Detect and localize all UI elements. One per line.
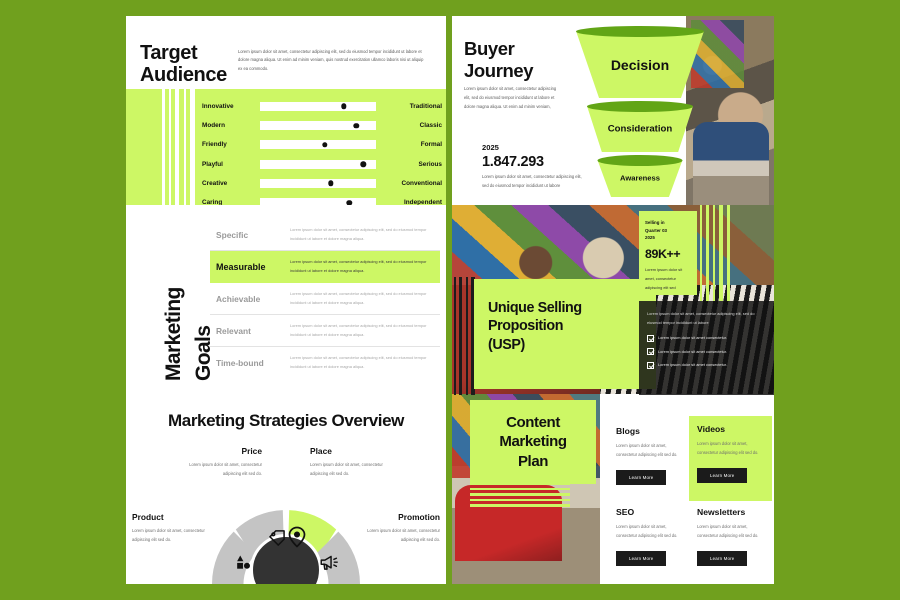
goal-row[interactable]: AchievableLorem ipsum dolor sit amet, co… bbox=[210, 283, 440, 315]
title-line-3: (USP) bbox=[488, 336, 648, 354]
funnel-stage-label: Awareness bbox=[598, 173, 683, 182]
slider-track[interactable] bbox=[260, 102, 376, 111]
title-line-2: Marketing bbox=[499, 433, 566, 450]
page-title: Target Audience bbox=[140, 42, 227, 87]
funnel-chart: Decision Consideration Awareness bbox=[560, 24, 720, 202]
metric-year: 2025 bbox=[482, 143, 499, 152]
funnel-stage-top-ellipse bbox=[598, 155, 683, 166]
title-line-3: Plan bbox=[518, 453, 548, 470]
checklist-item[interactable]: Lorem ipsum dolor sit amet consectetur. bbox=[647, 348, 766, 355]
slider-list: InnovativeTraditionalModernClassicFriend… bbox=[202, 98, 442, 202]
stat-card: Selling in Quarter 03 2025 89K++ Lorem i… bbox=[639, 211, 697, 295]
slider-row[interactable]: ModernClassic bbox=[202, 117, 442, 134]
content-card[interactable]: VideosLorem ipsum dolor sit amet, consec… bbox=[689, 416, 772, 501]
slider-row[interactable]: CreativeConventional bbox=[202, 175, 442, 192]
goal-row[interactable]: SpecificLorem ipsum dolor sit amet, cons… bbox=[210, 219, 440, 251]
title-line-1: Target bbox=[140, 42, 227, 64]
content-cards-grid: BlogsLorem ipsum dolor sit amet, consect… bbox=[614, 422, 766, 576]
intro-paragraph: Lorem ipsum dolor sit amet, consectetur … bbox=[464, 84, 562, 111]
learn-more-button[interactable]: Learn More bbox=[616, 551, 666, 566]
intro-paragraph: Lorem ipsum dolor sit amet, consectetur … bbox=[238, 48, 428, 73]
goal-name: Specific bbox=[216, 230, 290, 240]
title-line-2: Audience bbox=[140, 64, 227, 86]
card-heading: SEO bbox=[616, 507, 683, 517]
funnel-stage-top-ellipse bbox=[576, 26, 704, 37]
slider-row[interactable]: FriendlyFormal bbox=[202, 137, 442, 154]
strategy-description: Lorem ipsum dolor sit amet, consectetur … bbox=[310, 460, 384, 478]
page-title: Marketing Strategies Overview bbox=[126, 411, 446, 431]
page-title: Unique Selling Proposition (USP) bbox=[488, 299, 648, 354]
strategy-description: Lorem ipsum dolor sit amet, consectetur … bbox=[132, 526, 206, 544]
card-heading: Newsletters bbox=[697, 507, 764, 517]
slider-right-label: Conventional bbox=[380, 180, 442, 187]
slider-left-label: Innovative bbox=[202, 103, 256, 110]
stat-value: 89K++ bbox=[645, 247, 691, 261]
checklist-item-label: Lorem ipsum dolor sit amet consectetur. bbox=[658, 362, 727, 367]
strategy-description: Lorem ipsum dolor sit amet, consectetur … bbox=[366, 526, 440, 544]
learn-more-button[interactable]: Learn More bbox=[616, 470, 666, 485]
funnel-stage-consideration[interactable]: Consideration bbox=[587, 101, 693, 152]
funnel-stage-label: Consideration bbox=[587, 123, 693, 134]
slider-left-label: Creative bbox=[202, 180, 256, 187]
slide-buyer-journey[interactable]: Buyer Journey Lorem ipsum dolor sit amet… bbox=[452, 16, 774, 206]
panel-lead-text: Lorem ipsum dolor sit amet, consectetur … bbox=[647, 310, 766, 328]
strategy-heading: Price bbox=[188, 446, 262, 456]
slider-knob[interactable] bbox=[328, 181, 333, 186]
funnel-stage-awareness[interactable]: Awareness bbox=[598, 155, 683, 197]
goal-description: Lorem ipsum dolor sit amet, consectetur … bbox=[290, 258, 440, 276]
megaphone-icon bbox=[319, 554, 339, 572]
tag-icon bbox=[267, 528, 287, 548]
title-line-2: Proposition bbox=[488, 317, 648, 335]
strategy-description: Lorem ipsum dolor sit amet, consectetur … bbox=[188, 460, 262, 478]
strategy-cell-place[interactable]: Place Lorem ipsum dolor sit amet, consec… bbox=[310, 446, 384, 478]
checklist-item[interactable]: Lorem ipsum dolor sit amet consectetur. bbox=[647, 362, 766, 369]
title-line-1: Unique Selling bbox=[488, 299, 648, 317]
slider-knob[interactable] bbox=[354, 123, 359, 128]
decorative-lime-stripes bbox=[698, 205, 734, 301]
slide-deck-preview: Target Audience Lorem ipsum dolor sit am… bbox=[0, 0, 900, 600]
goal-row[interactable]: MeasurableLorem ipsum dolor sit amet, co… bbox=[210, 251, 440, 283]
usp-title-block: Unique Selling Proposition (USP) bbox=[474, 279, 656, 389]
slide-unique-selling-proposition[interactable]: Unique Selling Proposition (USP) Selling… bbox=[452, 205, 774, 395]
slider-track[interactable] bbox=[260, 121, 376, 130]
slider-row[interactable]: PlayfulSerious bbox=[202, 156, 442, 173]
goal-description: Lorem ipsum dolor sit amet, consectetur … bbox=[290, 226, 440, 244]
strategy-cell-price[interactable]: Price Lorem ipsum dolor sit amet, consec… bbox=[188, 446, 262, 478]
learn-more-button[interactable]: Learn More bbox=[697, 468, 747, 483]
goal-description: Lorem ipsum dolor sit amet, consectetur … bbox=[290, 290, 440, 308]
page-title: Buyer Journey bbox=[464, 38, 533, 82]
rotated-page-title: Marketing Goals bbox=[130, 205, 204, 395]
strategy-cell-product[interactable]: Product Lorem ipsum dolor sit amet, cons… bbox=[132, 512, 206, 544]
slider-row[interactable]: InnovativeTraditional bbox=[202, 98, 442, 115]
card-description: Lorem ipsum dolor sit amet, consectetur … bbox=[616, 522, 683, 540]
card-description: Lorem ipsum dolor sit amet, consectetur … bbox=[616, 441, 683, 459]
card-description: Lorem ipsum dolor sit amet, consectetur … bbox=[697, 439, 764, 457]
goal-name: Achievable bbox=[216, 294, 290, 304]
target-audience-header: Target Audience Lorem ipsum dolor sit am… bbox=[126, 16, 446, 89]
checklist-item[interactable]: Lorem ipsum dolor sit amet consectetur. bbox=[647, 335, 766, 342]
checkbox-checked-icon[interactable] bbox=[647, 335, 654, 342]
semi-donut-chart bbox=[208, 506, 364, 584]
funnel-stage-top-ellipse bbox=[587, 101, 693, 112]
title-text: Content Marketing Plan bbox=[499, 413, 566, 472]
slider-track[interactable] bbox=[260, 160, 376, 169]
strategy-heading: Product bbox=[132, 512, 206, 522]
slider-left-label: Friendly bbox=[202, 141, 256, 148]
goal-name: Relevant bbox=[216, 326, 290, 336]
slider-left-label: Modern bbox=[202, 122, 256, 129]
metric-value: 1.847.293 bbox=[482, 154, 544, 170]
goal-description: Lorem ipsum dolor sit amet, consectetur … bbox=[290, 354, 440, 372]
content-card[interactable]: SEOLorem ipsum dolor sit amet, consectet… bbox=[614, 503, 685, 576]
page-title: Content Marketing Plan bbox=[470, 400, 596, 484]
slider-knob[interactable] bbox=[322, 142, 327, 147]
learn-more-button[interactable]: Learn More bbox=[697, 551, 747, 566]
strategy-heading: Promotion bbox=[366, 512, 440, 522]
slider-knob[interactable] bbox=[361, 161, 366, 166]
card-description: Lorem ipsum dolor sit amet, consectetur … bbox=[697, 522, 764, 540]
stat-description: Lorem ipsum dolor sit amet, consectetur … bbox=[645, 266, 691, 292]
checklist: Lorem ipsum dolor sit amet consectetur.L… bbox=[647, 335, 766, 369]
checklist-item-label: Lorem ipsum dolor sit amet consectetur. bbox=[658, 335, 727, 340]
title-line-1: Buyer bbox=[464, 38, 533, 60]
funnel-stage-label: Decision bbox=[576, 57, 704, 73]
stat-kicker-line-3: 2025 bbox=[645, 234, 691, 242]
goal-description: Lorem ipsum dolor sit amet, consectetur … bbox=[290, 322, 440, 340]
slider-knob[interactable] bbox=[341, 104, 346, 109]
slide-marketing-strategies[interactable]: Marketing Strategies Overview Price Lore… bbox=[126, 394, 446, 584]
stat-kicker: Selling in Quarter 03 2025 bbox=[645, 219, 691, 242]
checklist-item-label: Lorem ipsum dolor sit amet consectetur. bbox=[658, 349, 727, 354]
stat-kicker-line-1: Selling in bbox=[645, 219, 691, 227]
stat-kicker-line-2: Quarter 03 bbox=[645, 227, 691, 235]
slider-right-label: Classic bbox=[380, 122, 442, 129]
card-heading: Videos bbox=[697, 424, 764, 434]
usp-detail-panel: Lorem ipsum dolor sit amet, consectetur … bbox=[639, 301, 774, 395]
content-card[interactable]: NewslettersLorem ipsum dolor sit amet, c… bbox=[695, 503, 766, 576]
goal-name: Measurable bbox=[216, 262, 290, 272]
slider-right-label: Formal bbox=[380, 141, 442, 148]
goal-row[interactable]: Time-boundLorem ipsum dolor sit amet, co… bbox=[210, 347, 440, 379]
decorative-horizontal-stripes bbox=[470, 482, 570, 508]
card-heading: Blogs bbox=[616, 426, 683, 436]
slider-track[interactable] bbox=[260, 140, 376, 149]
slider-right-label: Serious bbox=[380, 161, 442, 168]
strategy-heading: Place bbox=[310, 446, 384, 456]
target-audience-body: InnovativeTraditionalModernClassicFriend… bbox=[126, 89, 446, 206]
slide-marketing-goals[interactable]: Marketing Goals SpecificLorem ipsum dolo… bbox=[126, 205, 446, 395]
funnel-stage-decision[interactable]: Decision bbox=[576, 26, 704, 98]
goal-name: Time-bound bbox=[216, 358, 290, 368]
title-line-2: Journey bbox=[464, 60, 533, 82]
content-cards-panel: BlogsLorem ipsum dolor sit amet, consect… bbox=[600, 394, 774, 584]
slide-content-marketing-plan[interactable]: Content Marketing Plan BlogsLorem ipsum … bbox=[452, 394, 774, 584]
smart-goals-list: SpecificLorem ipsum dolor sit amet, cons… bbox=[210, 219, 440, 389]
slide-target-audience[interactable]: Target Audience Lorem ipsum dolor sit am… bbox=[126, 16, 446, 206]
content-card[interactable]: BlogsLorem ipsum dolor sit amet, consect… bbox=[614, 422, 685, 495]
slider-left-label: Playful bbox=[202, 161, 256, 168]
slider-track[interactable] bbox=[260, 179, 376, 188]
checkbox-checked-icon[interactable] bbox=[647, 348, 654, 355]
shapes-icon bbox=[236, 555, 253, 572]
checkbox-checked-icon[interactable] bbox=[647, 362, 654, 369]
title-line-1: Marketing bbox=[162, 287, 186, 381]
goal-row[interactable]: RelevantLorem ipsum dolor sit amet, cons… bbox=[210, 315, 440, 347]
strategy-cell-promotion[interactable]: Promotion Lorem ipsum dolor sit amet, co… bbox=[366, 512, 440, 544]
slider-right-label: Traditional bbox=[380, 103, 442, 110]
title-line-1: Content bbox=[506, 414, 560, 431]
location-pin-icon bbox=[287, 526, 307, 548]
